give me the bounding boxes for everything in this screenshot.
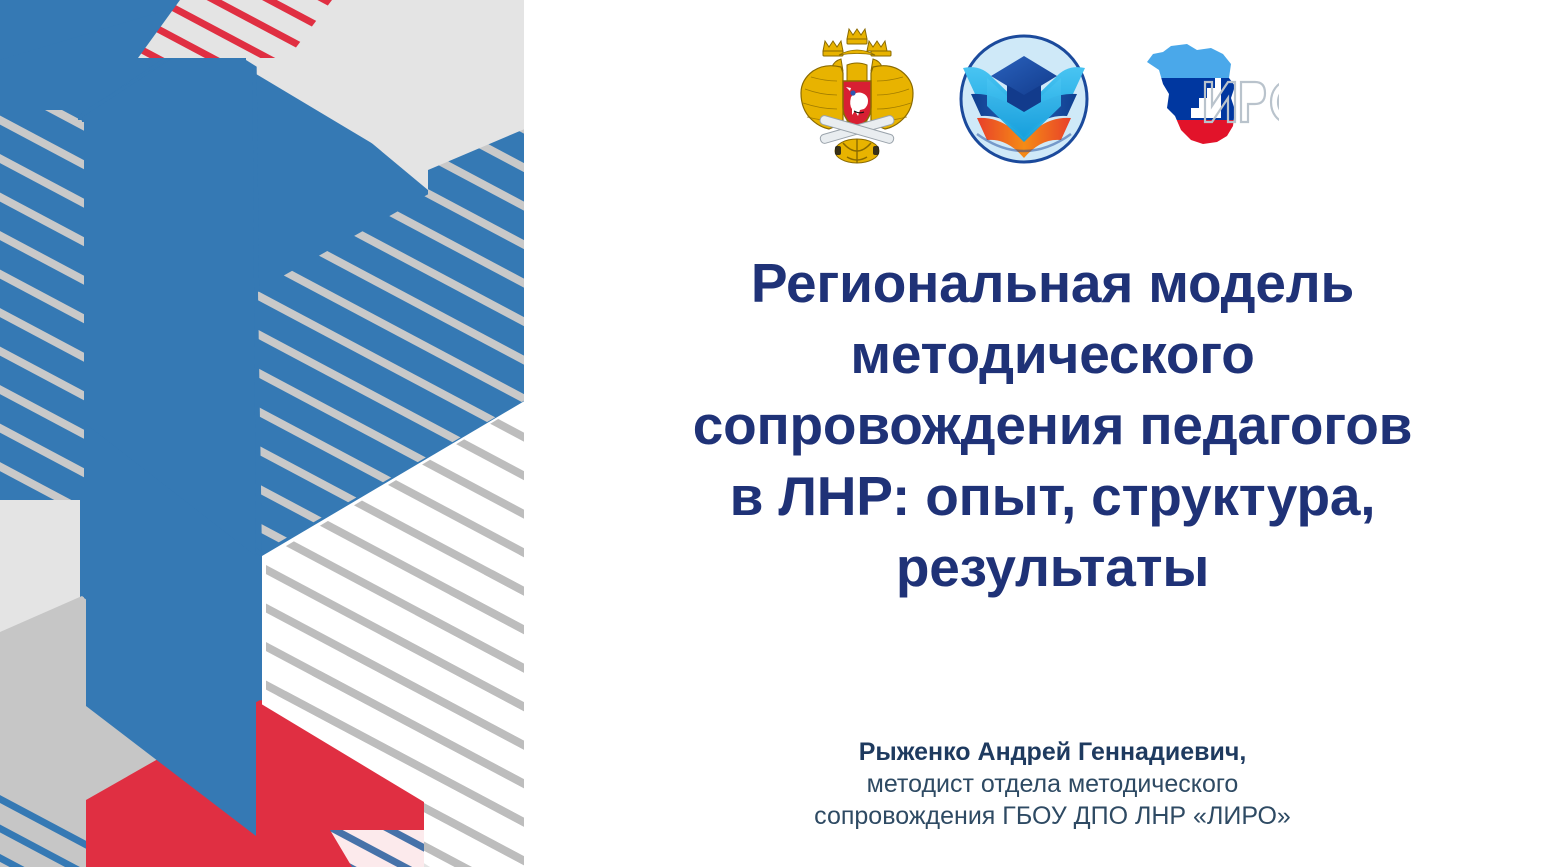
- logo-row: [795, 24, 1315, 174]
- author-byline: Рыженко Андрей Геннадиевич, методист отд…: [570, 736, 1535, 832]
- author-role-line-2: сопровождения ГБОУ ДПО ЛНР «ЛИРО»: [570, 800, 1535, 832]
- isometric-pattern-svg: [0, 0, 560, 867]
- graduation-cap-circle-icon: [957, 32, 1091, 166]
- title-line-2: методического: [570, 319, 1535, 390]
- title-line-4: в ЛНР: опыт, структура,: [570, 461, 1535, 532]
- title-line-1: Региональная модель: [570, 248, 1535, 319]
- title-slide: Региональная модель методического сопров…: [0, 0, 1547, 867]
- page-title: Региональная модель методического сопров…: [570, 248, 1535, 603]
- lnr-map-iro-icon: [1129, 32, 1279, 166]
- decorative-geometric-panel: [0, 0, 560, 867]
- title-line-3: сопровождения педагогов: [570, 390, 1535, 461]
- author-name: Рыженко Андрей Геннадиевич,: [570, 736, 1535, 768]
- author-role-line-1: методист отдела методического: [570, 768, 1535, 800]
- russian-double-headed-eagle-icon: [795, 25, 919, 173]
- title-line-5: результаты: [570, 532, 1535, 603]
